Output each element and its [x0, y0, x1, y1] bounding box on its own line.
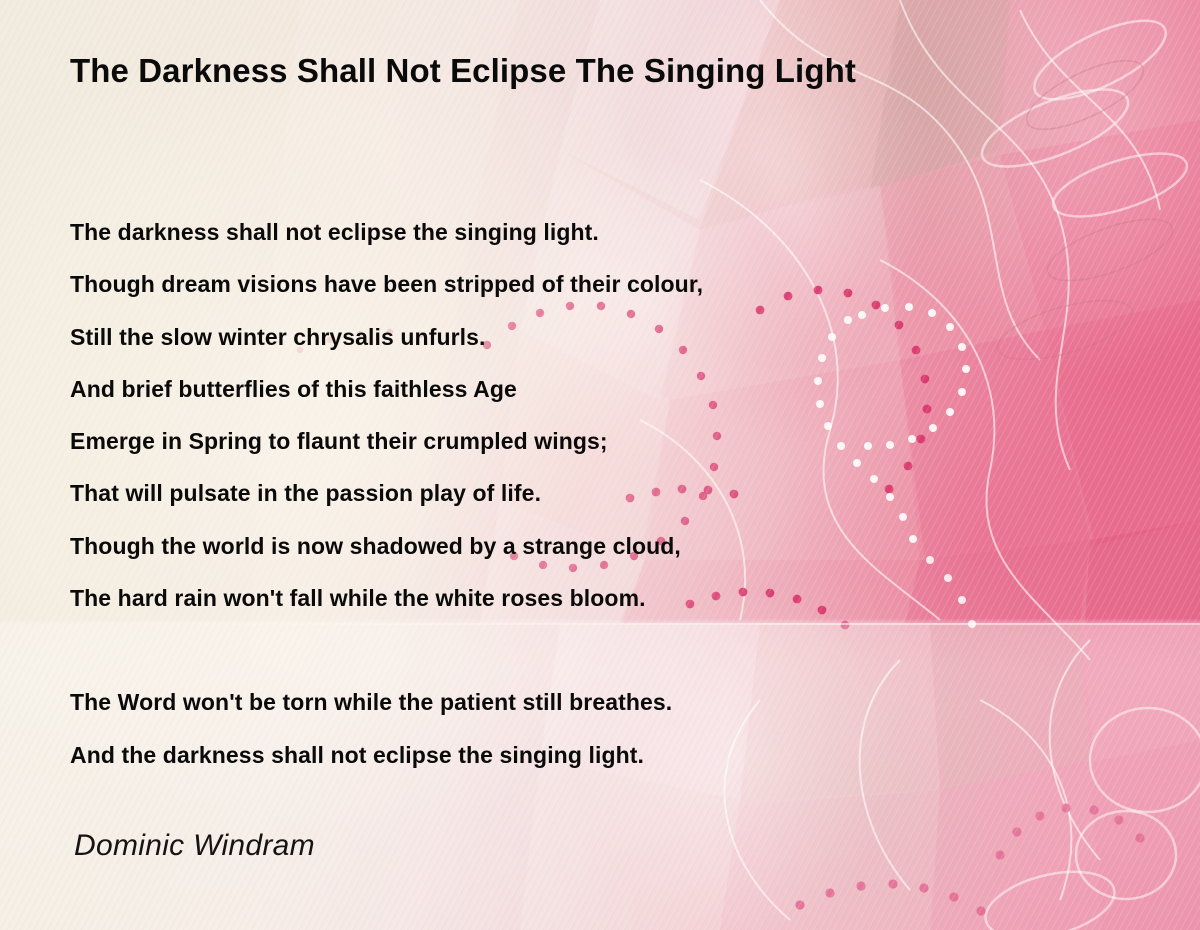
- poem-line: The darkness shall not eclipse the singi…: [70, 206, 1080, 258]
- poem-card: The Darkness Shall Not Eclipse The Singi…: [0, 0, 1200, 930]
- poem-line: And brief butterflies of this faithless …: [70, 363, 1080, 415]
- poem-line: And the darkness shall not eclipse the s…: [70, 729, 1080, 781]
- poem-text: The darkness shall not eclipse the singi…: [70, 206, 1080, 781]
- poem-line: Though the world is now shadowed by a st…: [70, 520, 1080, 572]
- poem-line: Still the slow winter chrysalis unfurls.: [70, 311, 1080, 363]
- poem-line: Though dream visions have been stripped …: [70, 258, 1080, 310]
- poem-line: That will pulsate in the passion play of…: [70, 467, 1080, 519]
- poem-author: Dominic Windram: [74, 826, 315, 866]
- poem-line: The Word won't be torn while the patient…: [70, 676, 1080, 728]
- stanza-2: The Word won't be torn while the patient…: [70, 676, 1080, 781]
- poem-content: The Darkness Shall Not Eclipse The Singi…: [0, 0, 1200, 930]
- poem-line: Emerge in Spring to flaunt their crumple…: [70, 415, 1080, 467]
- poem-title: The Darkness Shall Not Eclipse The Singi…: [70, 48, 1000, 94]
- poem-line: The hard rain won't fall while the white…: [70, 572, 1080, 624]
- stanza-separator: [70, 624, 1080, 676]
- stanza-1: The darkness shall not eclipse the singi…: [70, 206, 1080, 624]
